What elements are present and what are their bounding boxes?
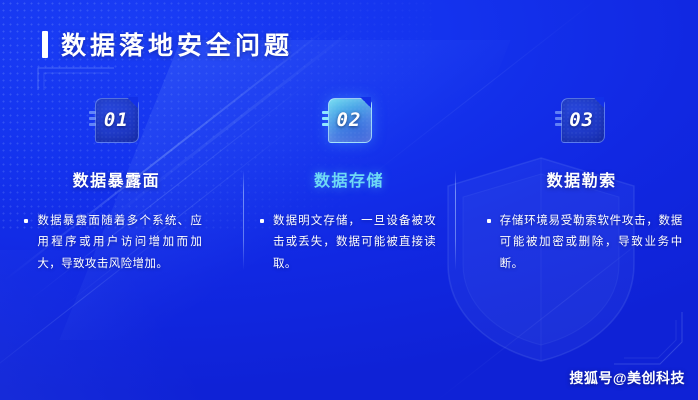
- column-item-02[interactable]: 02 数据存储 数据明文存储，一旦设备被攻击或丢失，数据可能被直接读取。: [233, 84, 466, 324]
- step-badge-03: 03: [555, 98, 603, 141]
- page-title: 数据落地安全问题: [61, 26, 293, 62]
- column-body-text: 数据暴露面随着多个系统、应用程序或用户访问增加而加大，导致攻击风险增加。: [37, 211, 202, 275]
- column-body-text: 存储环境易受勒索软件攻击，数据可能被加密或删除，导致业务中断。: [500, 211, 683, 275]
- bullet-icon: [260, 219, 264, 223]
- column-item-01[interactable]: 01 数据暴露面 数据暴露面随着多个系统、应用程序或用户访问增加而加大，导致攻击…: [0, 84, 233, 324]
- bullet-icon: [24, 219, 28, 223]
- step-badge-01: 01: [89, 98, 137, 141]
- bullet-icon: [487, 219, 491, 223]
- title-accent-bar: [42, 31, 48, 58]
- columns-container: 01 数据暴露面 数据暴露面随着多个系统、应用程序或用户访问增加而加大，导致攻击…: [0, 84, 698, 324]
- column-body: 数据明文存储，一旦设备被攻击或丢失，数据可能被直接读取。: [260, 211, 436, 275]
- slide-header: 数据落地安全问题: [42, 26, 293, 62]
- column-body: 数据暴露面随着多个系统、应用程序或用户访问增加而加大，导致攻击风险增加。: [24, 211, 202, 275]
- column-heading: 数据存储: [314, 167, 384, 191]
- badge-number: 03: [561, 98, 603, 141]
- column-item-03[interactable]: 03 数据勒索 存储环境易受勒索软件攻击，数据可能被加密或删除，导致业务中断。: [465, 84, 698, 324]
- slide-canvas: 数据落地安全问题 01 数据暴露面 数据暴露面随着多个系统、应用程序或用户访问增…: [0, 0, 698, 400]
- column-heading: 数据勒索: [547, 167, 617, 191]
- column-body-text: 数据明文存储，一旦设备被攻击或丢失，数据可能被直接读取。: [273, 211, 436, 275]
- step-badge-02: 02: [322, 98, 370, 141]
- column-body: 存储环境易受勒索软件攻击，数据可能被加密或删除，导致业务中断。: [487, 211, 683, 275]
- column-heading: 数据暴露面: [73, 167, 161, 191]
- badge-number: 02: [328, 98, 370, 141]
- badge-number: 01: [95, 98, 137, 141]
- source-watermark: 搜狐号@美创科技: [569, 368, 685, 388]
